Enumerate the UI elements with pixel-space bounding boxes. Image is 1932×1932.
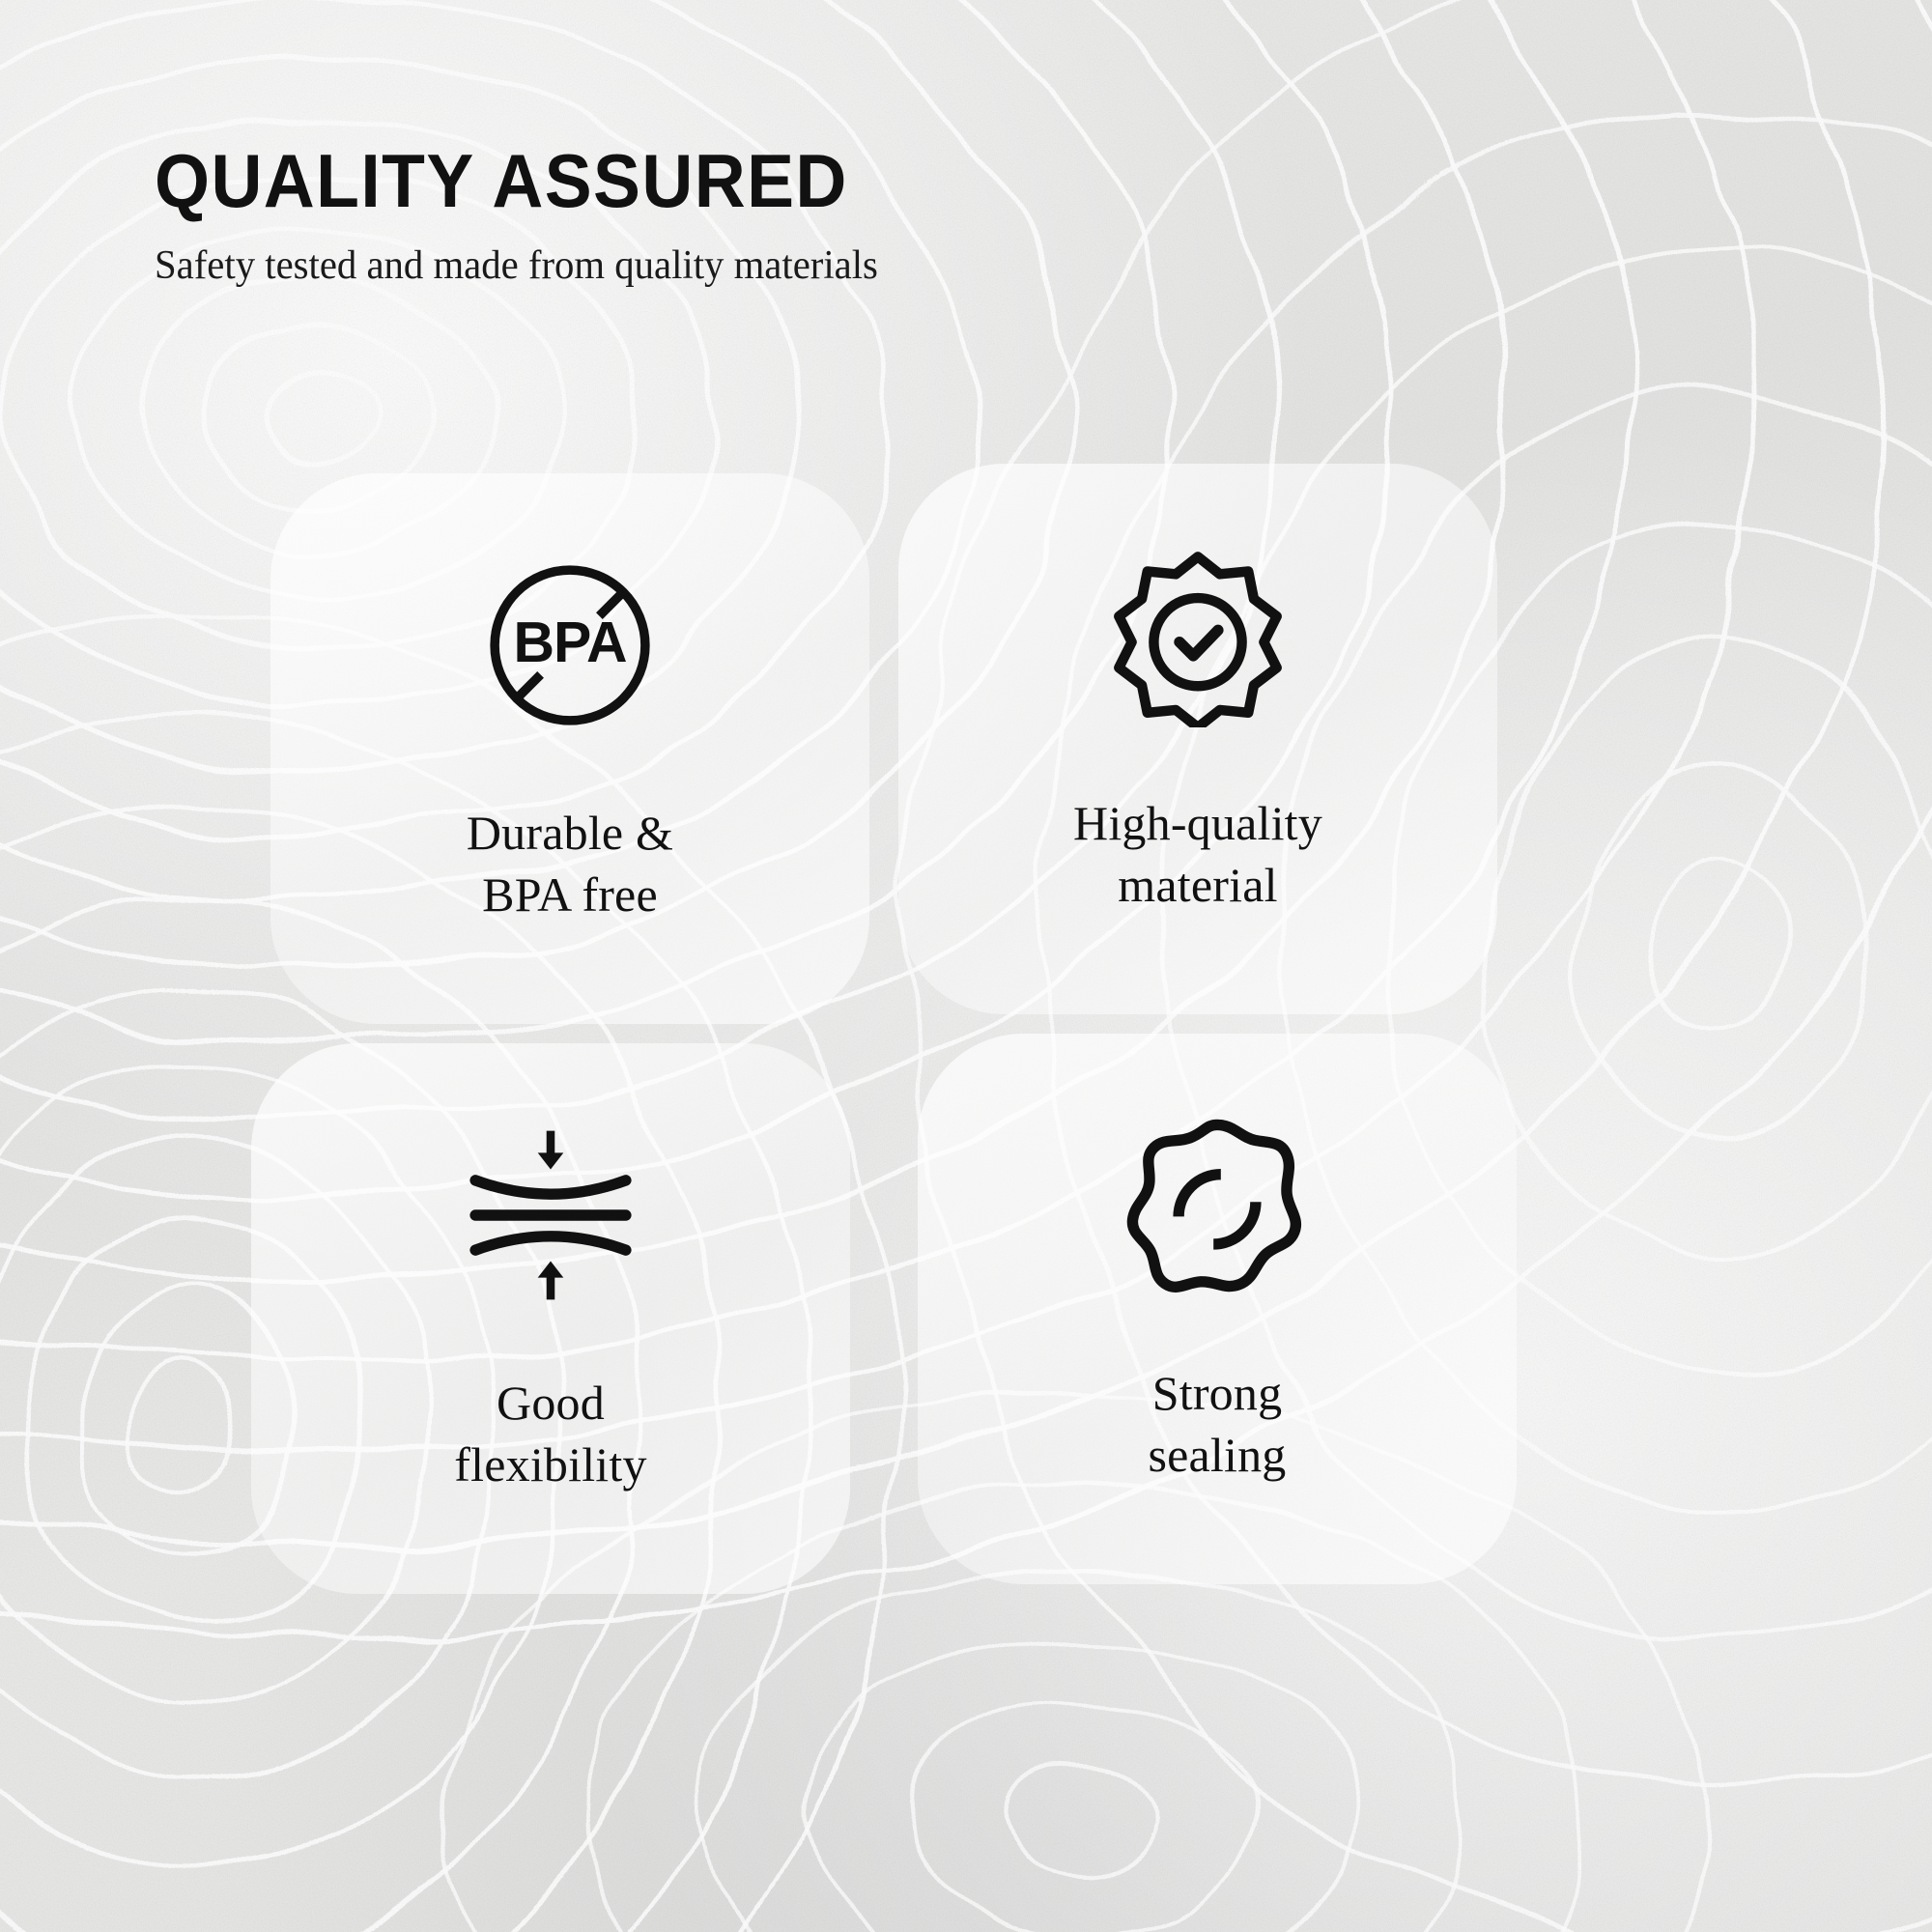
wavy-seal-icon [1121, 1109, 1314, 1302]
feature-card-grid: BPA Durable & BPA free High-quality mate… [241, 473, 1690, 1681]
feature-card-strong-sealing[interactable]: Strong sealing [918, 1034, 1517, 1584]
header-block: QUALITY ASSURED Safety tested and made f… [155, 143, 1507, 288]
no-bpa-icon: BPA [473, 549, 667, 742]
feature-label: High-quality material [1073, 792, 1322, 916]
quality-assured-infographic: QUALITY ASSURED Safety tested and made f… [0, 0, 1932, 1932]
feature-label: Strong sealing [1148, 1362, 1286, 1486]
page-title: QUALITY ASSURED [155, 143, 1426, 218]
flexibility-arrows-icon [454, 1119, 647, 1312]
feature-label: Durable & BPA free [467, 802, 673, 925]
page-subtitle: Safety tested and made from quality mate… [155, 243, 1466, 288]
svg-text:BPA: BPA [513, 611, 626, 674]
feature-card-durable-bpa-free[interactable]: BPA Durable & BPA free [270, 473, 869, 1024]
quality-badge-check-icon [1101, 539, 1294, 732]
feature-card-high-quality-material[interactable]: High-quality material [898, 464, 1497, 1014]
feature-label: Good flexibility [454, 1372, 646, 1495]
feature-card-good-flexibility[interactable]: Good flexibility [251, 1043, 850, 1594]
